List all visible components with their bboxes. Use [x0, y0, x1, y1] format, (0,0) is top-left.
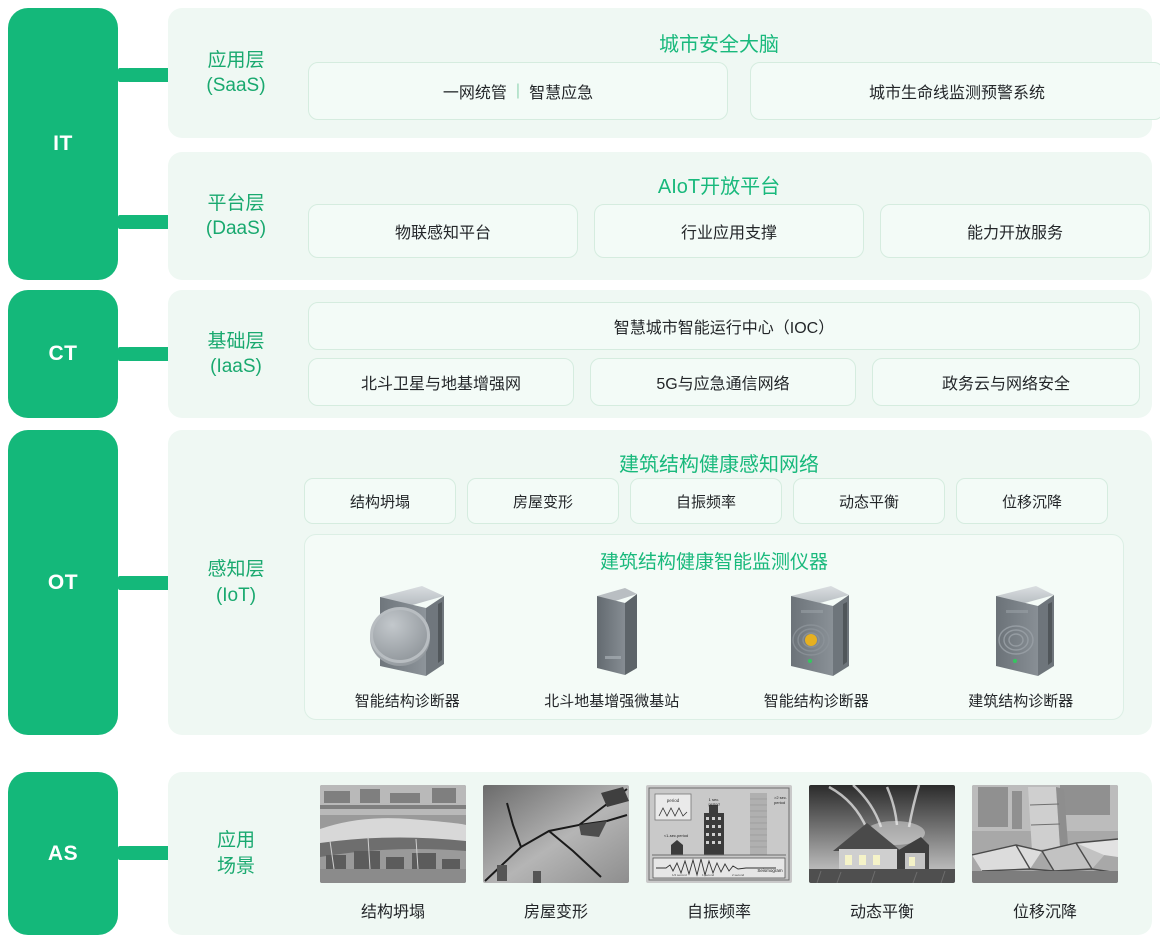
card-label-beidou: 北斗卫星与地基增强网 [361, 370, 521, 394]
scene-caption-0: 结构坍塌 [320, 898, 466, 922]
device-panel: 建筑结构健康智能监测仪器 [304, 534, 1124, 720]
scene-cell-4[interactable]: 位移沉降 [972, 785, 1118, 922]
svg-text:period: period [708, 802, 719, 807]
layer-label-iot-cn: 感知层 [186, 557, 286, 582]
rail-pill-ot-label: OT [48, 571, 78, 595]
chip-dynamic-balance[interactable]: 动态平衡 [793, 478, 945, 524]
scene-caption-4: 位移沉降 [972, 898, 1118, 922]
scene-art-collapsed-structure [320, 785, 466, 883]
scene-art-seismogram-diagram: period >2 sec. period [646, 785, 792, 883]
card-label-capability-service: 能力开放服务 [967, 219, 1063, 243]
scene-caption-3: 动态平衡 [809, 898, 955, 922]
svg-text:period: period [667, 798, 680, 803]
device-art-sensor-yellow-dot [732, 574, 900, 684]
card-capability-open-service[interactable]: 能力开放服务 [880, 204, 1150, 258]
chip-natural-frequency[interactable]: 自振频率 [630, 478, 782, 524]
card-label-iot-sensing: 物联感知平台 [395, 219, 491, 243]
device-caption-3: 建筑结构诊断器 [937, 690, 1105, 711]
rail-pill-as[interactable]: AS [8, 772, 118, 935]
device-cell-0[interactable]: 智能结构诊断器 [323, 574, 491, 711]
device-cell-1[interactable]: 北斗地基增强微基站 [528, 574, 696, 711]
panel-application-scenarios: 应用 场景 [168, 772, 1152, 935]
scene-cell-2[interactable]: period >2 sec. period [646, 785, 792, 922]
card-gov-cloud-security[interactable]: 政务云与网络安全 [872, 358, 1140, 406]
card-label-industry-support: 行业应用支撑 [681, 219, 777, 243]
layer-label-iot: 感知层 (IoT) [186, 557, 286, 607]
scene-art-cracked-wall [483, 785, 629, 883]
card-iot-sensing-platform[interactable]: 物联感知平台 [308, 204, 578, 258]
svg-text:Seismogram: Seismogram [757, 868, 783, 873]
device-art-sensor-disc [323, 574, 491, 684]
layer-label-saas-en: (SaaS) [186, 73, 286, 98]
card-city-lifeline-monitoring[interactable]: 城市生命线监测预警系统 [750, 62, 1160, 120]
chip-label-4: 位移沉降 [1002, 491, 1062, 512]
rail-pill-as-label: AS [48, 842, 78, 866]
device-caption-1: 北斗地基增强微基站 [528, 690, 696, 711]
device-caption-0: 智能结构诊断器 [323, 690, 491, 711]
layer-label-daas: 平台层 (DaaS) [186, 191, 286, 241]
chip-label-2: 自振频率 [676, 491, 736, 512]
rail-pill-ct-label: CT [49, 342, 78, 366]
layer-label-scenarios: 应用 场景 [186, 828, 286, 878]
layer-label-daas-cn: 平台层 [186, 191, 286, 216]
layer-label-scenarios-cn: 应用 [186, 828, 286, 853]
layer-label-daas-en: (DaaS) [186, 216, 286, 241]
card-separator: | [516, 82, 520, 100]
chip-label-0: 结构坍塌 [350, 491, 410, 512]
layer-label-iaas: 基础层 (IaaS) [186, 329, 286, 379]
layer-label-scenarios-en: 场景 [186, 854, 286, 879]
scene-cell-3[interactable]: 动态平衡 [809, 785, 955, 922]
rail-pill-ot[interactable]: OT [8, 430, 118, 735]
device-art-basestation-tower [528, 574, 696, 684]
card-label-gov-cloud: 政务云与网络安全 [942, 370, 1070, 394]
svg-text:period: period [774, 800, 785, 805]
card-5g-emergency-network[interactable]: 5G与应急通信网络 [590, 358, 856, 406]
card-yiwangtongguan-zhihuiyingji[interactable]: 一网统管 | 智慧应急 [308, 62, 728, 120]
chip-displacement-settlement[interactable]: 位移沉降 [956, 478, 1108, 524]
device-cell-3[interactable]: 建筑结构诊断器 [937, 574, 1105, 711]
device-caption-2: 智能结构诊断器 [732, 690, 900, 711]
device-art-sensor-ripple [937, 574, 1105, 684]
chip-label-3: 动态平衡 [839, 491, 899, 512]
chip-building-deformation[interactable]: 房屋变形 [467, 478, 619, 524]
panel-application-layer: 应用层 (SaaS) 城市安全大脑 一网统管 | 智慧应急 城市生命线监测预警系… [168, 8, 1152, 138]
card-label-city-lifeline: 城市生命线监测预警系统 [869, 79, 1045, 103]
svg-text:1 second: 1 second [702, 873, 715, 877]
card-label-5g: 5G与应急通信网络 [656, 370, 789, 394]
card-label-smart-city-ioc: 智慧城市智能运行中心（IOC） [614, 314, 834, 338]
panel-platform-layer: 平台层 (DaaS) AIoT开放平台 物联感知平台 行业应用支撑 能力开放服务 [168, 152, 1152, 280]
card-smart-city-ioc[interactable]: 智慧城市智能运行中心（IOC） [308, 302, 1140, 350]
rail-pill-it-label: IT [53, 132, 73, 156]
card-beidou-ground-network[interactable]: 北斗卫星与地基增强网 [308, 358, 574, 406]
card-industry-app-support[interactable]: 行业应用支撑 [594, 204, 864, 258]
chip-label-1: 房屋变形 [513, 491, 573, 512]
card-label-yiwangtongguan: 一网统管 [443, 79, 507, 103]
svg-text:<1-sec.period: <1-sec.period [664, 833, 688, 838]
device-cell-2[interactable]: 智能结构诊断器 [732, 574, 900, 711]
architecture-diagram: IT CT OT AS 应用层 (SaaS) 城市安全大脑 一网统管 | 智慧应… [0, 0, 1160, 943]
panel-infrastructure-layer: 基础层 (IaaS) 智慧城市智能运行中心（IOC） 北斗卫星与地基增强网 5G… [168, 290, 1152, 418]
scene-cell-1[interactable]: 房屋变形 [483, 785, 629, 922]
layer-label-iot-en: (IoT) [186, 583, 286, 608]
rail-pill-ct[interactable]: CT [8, 290, 118, 418]
card-label-zhihuiyingji: 智慧应急 [529, 79, 593, 103]
svg-text:1/2 second: 1/2 second [672, 873, 687, 877]
rail-pill-it[interactable]: IT [8, 8, 118, 280]
scene-art-settlement [972, 785, 1118, 883]
layer-label-iaas-cn: 基础层 [186, 329, 286, 354]
scene-caption-1: 房屋变形 [483, 898, 629, 922]
panel-sensing-layer: 感知层 (IoT) 建筑结构健康感知网络 结构坍塌 房屋变形 自振频率 动态平衡 [168, 430, 1152, 735]
device-panel-title: 建筑结构健康智能监测仪器 [305, 547, 1123, 574]
layer-label-saas: 应用层 (SaaS) [186, 48, 286, 98]
layer-label-iaas-en: (IaaS) [186, 354, 286, 379]
scene-cell-0[interactable]: 结构坍塌 [320, 785, 466, 922]
scene-caption-2: 自振频率 [646, 898, 792, 922]
panel-title-city-safety-brain: 城市安全大脑 [286, 28, 1152, 57]
panel-title-structural-health-network: 建筑结构健康感知网络 [286, 448, 1152, 477]
chip-structural-collapse[interactable]: 结构坍塌 [304, 478, 456, 524]
scene-art-house-storm [809, 785, 955, 883]
layer-label-saas-cn: 应用层 [186, 48, 286, 73]
panel-title-aiot-platform: AIoT开放平台 [286, 170, 1152, 199]
svg-text:2 second: 2 second [732, 873, 745, 877]
